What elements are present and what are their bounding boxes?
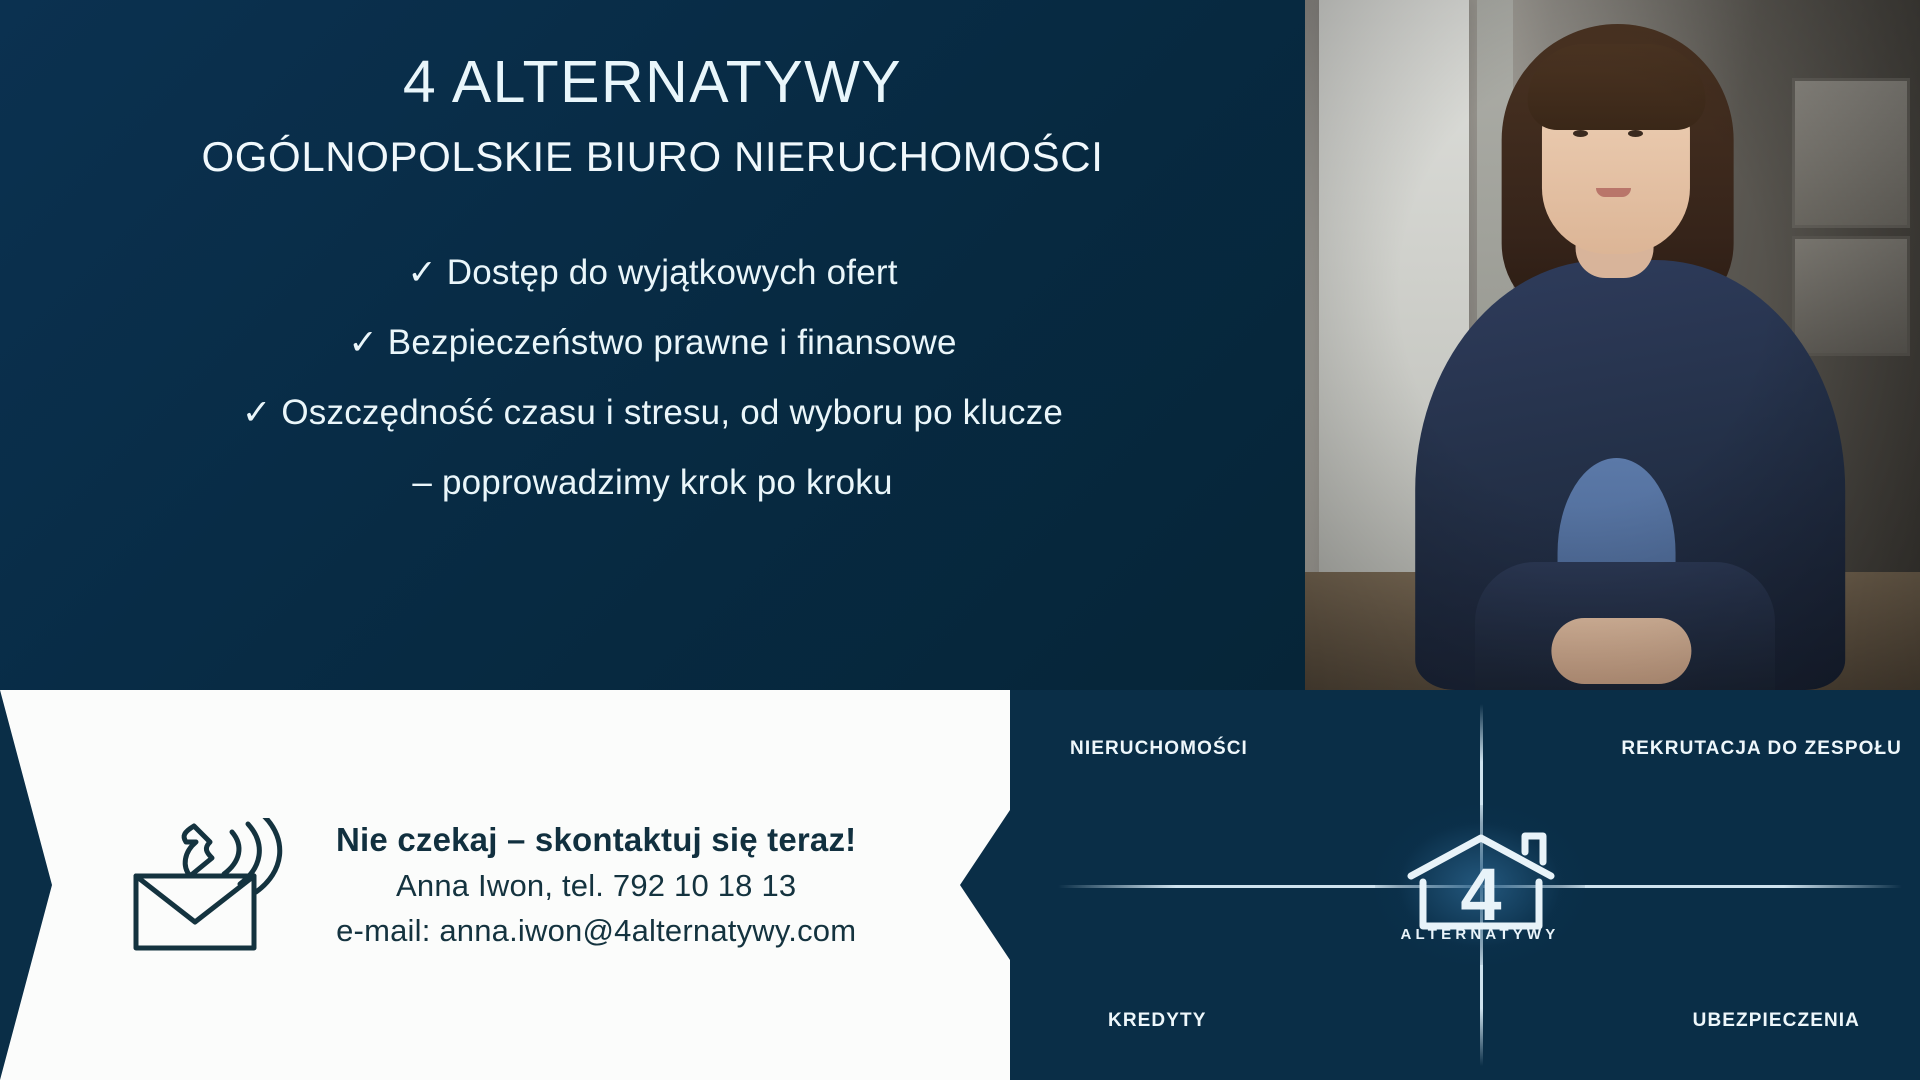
envelope-phone-icon — [118, 818, 328, 953]
page-subtitle: OGÓLNOPOLSKIE BIURO NIERUCHOMOŚCI — [202, 134, 1104, 180]
contact-phone: Anna Iwon, tel. 792 10 18 13 — [396, 868, 796, 904]
service-label-real-estate: NIERUCHOMOŚCI — [1070, 738, 1248, 760]
house-four-icon: 4 — [1393, 828, 1568, 938]
photo-vignette — [1305, 0, 1920, 690]
benefit-item: ✓ Bezpieczeństwo prawne i finansowe — [348, 322, 956, 364]
marketing-banner: 4 ALTERNATYWY OGÓLNOPOLSKIE BIURO NIERUC… — [0, 0, 1920, 1080]
services-quadrant: NIERUCHOMOŚCI REKRUTACJA DO ZESPOŁU KRED… — [1040, 690, 1920, 1080]
contact-banner: Nie czekaj – skontaktuj się teraz! Anna … — [0, 690, 1040, 1080]
agent-portrait-photo — [1305, 0, 1920, 690]
hero-panel: 4 ALTERNATYWY OGÓLNOPOLSKIE BIURO NIERUC… — [0, 0, 1305, 690]
benefit-item: – poprowadzimy krok po kroku — [412, 462, 892, 504]
contact-heading: Nie czekaj – skontaktuj się teraz! — [336, 821, 856, 859]
contact-details: Nie czekaj – skontaktuj się teraz! Anna … — [336, 821, 856, 949]
logo-numeral: 4 — [1460, 853, 1501, 936]
contact-email: e-mail: anna.iwon@4alternatywy.com — [336, 913, 856, 949]
benefit-item: ✓ Dostęp do wyjątkowych ofert — [407, 252, 897, 294]
company-logo: 4 ALTERNATYWY — [1380, 810, 1580, 960]
service-label-recruitment: REKRUTACJA DO ZESPOŁU — [1621, 738, 1902, 760]
logo-wordmark: ALTERNATYWY — [1401, 926, 1560, 943]
benefits-list: ✓ Dostęp do wyjątkowych ofert ✓ Bezpiecz… — [0, 252, 1305, 504]
benefit-item: ✓ Oszczędność czasu i stresu, od wyboru … — [242, 392, 1063, 434]
page-title: 4 ALTERNATYWY — [403, 52, 902, 114]
service-label-insurance: UBEZPIECZENIA — [1693, 1010, 1860, 1032]
service-label-credits: KREDYTY — [1108, 1010, 1207, 1032]
